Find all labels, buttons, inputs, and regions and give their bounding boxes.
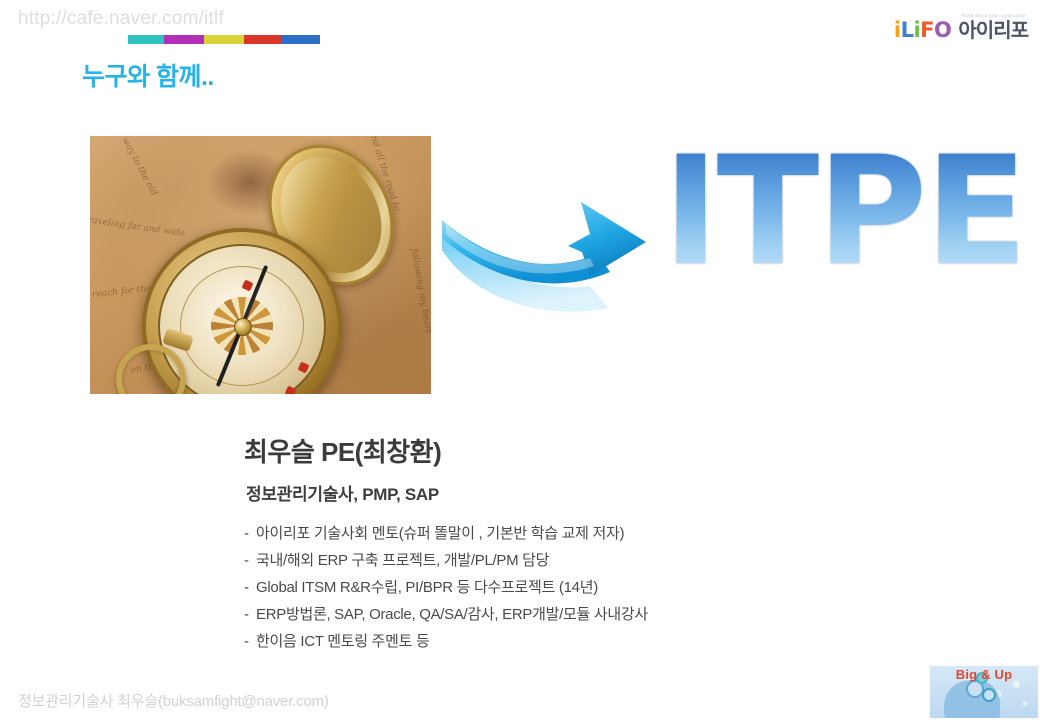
list-item: -Global ITSM R&R수립, PI/BPR 등 다수프로젝트 (14년…	[244, 574, 864, 601]
accent-color-bar	[128, 35, 320, 44]
compass-red-marker	[242, 280, 254, 292]
brand-letter-o-4: O	[934, 18, 951, 42]
list-item-label: ERP방법론, SAP, Oracle, QA/SA/감사, ERP개발/모듈 …	[256, 601, 648, 628]
slide-canvas: http://cafe.naver.com/itlf 누구와 함께.. iLiF…	[0, 0, 1040, 720]
list-item-label: Global ITSM R&R수립, PI/BPR 등 다수프로젝트 (14년)	[256, 574, 598, 601]
blue-arrow-icon	[440, 190, 670, 320]
compass-red-marker	[285, 386, 297, 394]
brand-korean-name: 아이리포	[958, 21, 1028, 41]
bullet-marker: -	[244, 628, 256, 655]
list-item-label: 한이음 ICT 멘토링 주멘토 등	[256, 628, 429, 655]
blue-arrow-svg	[440, 190, 670, 320]
big-and-up-badge: Big & Up	[928, 664, 1040, 720]
page-title: 누구와 함께..	[82, 57, 214, 93]
list-item: -아이리포 기술사회 멘토(슈퍼 똘말이 , 기본반 학습 교제 저자)	[244, 520, 864, 547]
cafe-url-text: http://cafe.naver.com/itlf	[18, 8, 224, 30]
list-item: -한이음 ICT 멘토링 주멘토 등	[244, 628, 864, 655]
compass-red-marker	[298, 362, 310, 374]
profile-bullet-list: -아이리포 기술사회 멘토(슈퍼 똘말이 , 기본반 학습 교제 저자)-국내/…	[244, 520, 864, 655]
bullet-marker: -	[244, 601, 256, 628]
brand-letter-l-1: L	[901, 18, 914, 42]
color-bar-segment-blue	[282, 35, 320, 44]
list-item-label: 국내/해외 ERP 구축 프로젝트, 개발/PL/PM 담당	[256, 547, 549, 574]
color-bar-segment-magenta	[164, 35, 204, 44]
brand-letter-f-3: F	[920, 18, 934, 42]
list-item: -국내/해외 ERP 구축 프로젝트, 개발/PL/PM 담당	[244, 547, 864, 574]
color-bar-segment-red	[244, 35, 282, 44]
brand-tagline: Think about your community	[961, 14, 1025, 19]
bullet-marker: -	[244, 520, 256, 547]
compass-dial	[180, 266, 304, 386]
itpe-wordmark: ITPE	[663, 137, 1026, 287]
bullet-marker: -	[244, 574, 256, 601]
brand-letter-i-0: i	[894, 18, 901, 42]
compass-photo: the way to the old traveling far and wid…	[90, 136, 431, 394]
color-bar-segment-yellow	[204, 35, 244, 44]
brand-logo: iLiFO Think about your community 아이리포	[894, 14, 1028, 41]
profile-name: 최우슬 PE(최창환)	[244, 432, 441, 469]
list-item: -ERP방법론, SAP, Oracle, QA/SA/감사, ERP개발/모듈…	[244, 601, 864, 628]
color-bar-segment-teal	[128, 35, 164, 44]
brand-korean-wrap: Think about your community 아이리포	[958, 14, 1028, 41]
compass-needle-hub	[234, 318, 252, 336]
bullet-marker: -	[244, 547, 256, 574]
brand-mark-ilifo: iLiFO	[894, 20, 952, 41]
footer-contact: 정보관리기술사 최우슬(buksamfight@naver.com)	[18, 690, 329, 711]
profile-certifications: 정보관리기술사, PMP, SAP	[246, 480, 439, 505]
badge-label: Big & Up	[930, 667, 1038, 682]
gear-icon	[982, 688, 996, 702]
list-item-label: 아이리포 기술사회 멘토(슈퍼 똘말이 , 기본반 학습 교제 저자)	[256, 520, 624, 547]
